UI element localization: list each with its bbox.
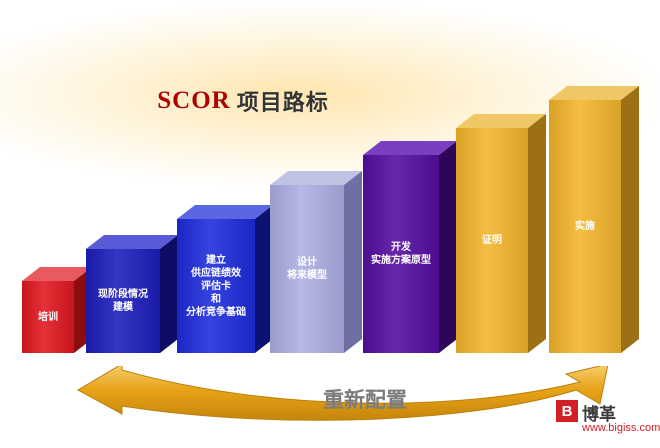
- arrow-label: 重新配置: [290, 385, 440, 413]
- logo-url: www.bigiss.com: [582, 422, 660, 434]
- step-bar-side-4: [344, 185, 362, 353]
- step-bar-label-5: 开发 实施方案原型: [363, 155, 439, 353]
- step-bar-label-6: 证明: [456, 128, 528, 353]
- step-bar-label-7: 实施: [549, 100, 621, 353]
- step-bar-side-6: [528, 128, 546, 353]
- step-bar-label-1: 培训: [22, 281, 74, 353]
- step-bar-3: 建立 供应链绩效 评估卡 和 分析竞争基础: [177, 219, 255, 353]
- step-bar-6: 证明: [456, 128, 528, 353]
- brand-logo: B 博革 www.bigiss.com: [556, 398, 652, 440]
- title-main: SCOR: [157, 87, 230, 115]
- step-bar-1: 培训: [22, 281, 74, 353]
- step-bar-side-5: [439, 155, 457, 353]
- step-bar-side-7: [621, 100, 639, 353]
- logo-mark-icon: B: [556, 400, 578, 422]
- page-title: SCOR 项目路标: [118, 84, 368, 118]
- step-bar-7: 实施: [549, 100, 621, 353]
- step-bar-label-2: 现阶段情况 建模: [86, 249, 160, 353]
- step-bar-label-3: 建立 供应链绩效 评估卡 和 分析竞争基础: [177, 219, 255, 353]
- step-bar-2: 现阶段情况 建模: [86, 249, 160, 353]
- step-bar-4: 设计 将来模型: [270, 185, 344, 353]
- step-bar-label-4: 设计 将来模型: [270, 185, 344, 353]
- step-bar-side-2: [160, 249, 178, 353]
- step-bar-5: 开发 实施方案原型: [363, 155, 439, 353]
- slide-canvas: SCOR 项目路标 培训现阶段情况 建模建立 供应链绩效 评估卡 和 分析竞争基…: [0, 0, 660, 448]
- title-sub: 项目路标: [237, 85, 329, 117]
